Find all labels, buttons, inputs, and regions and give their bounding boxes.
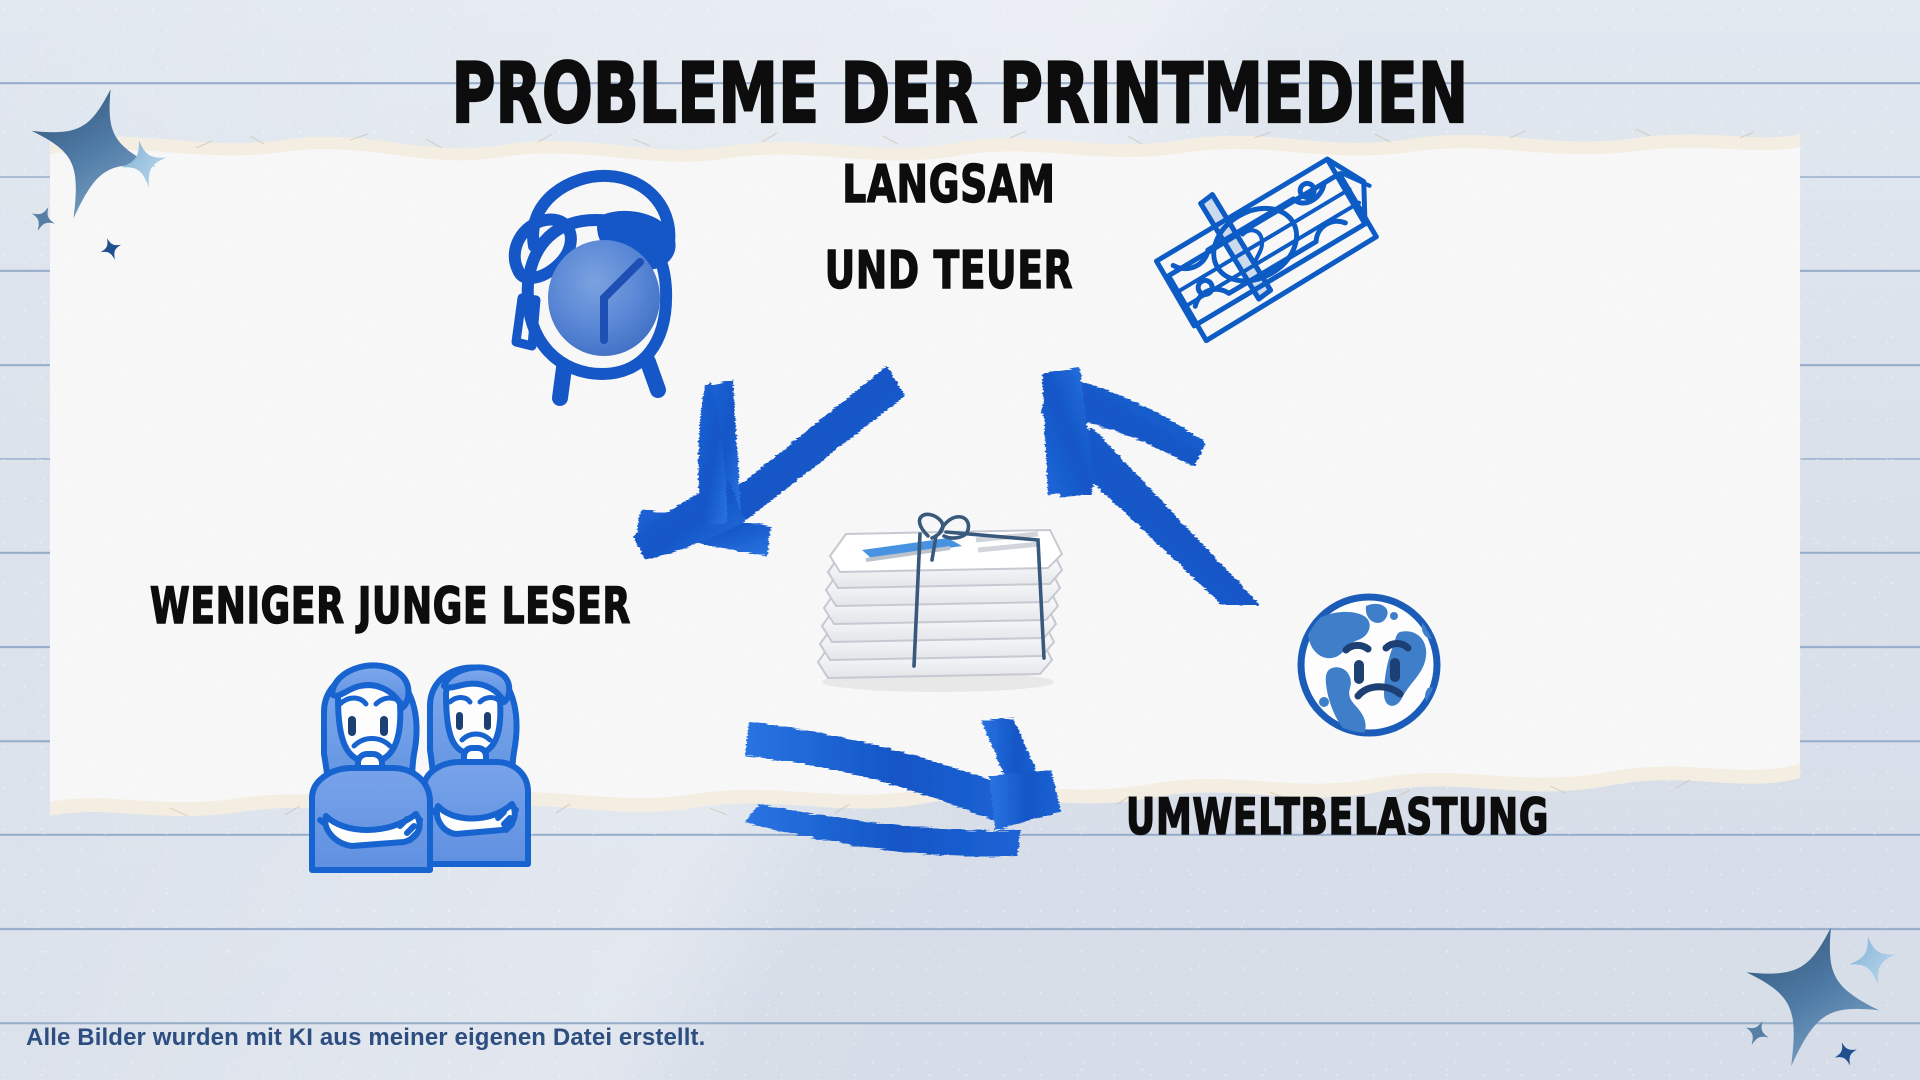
label-umweltbelastung: UMWELTBELASTUNG <box>1126 775 1494 860</box>
label-langsam-und-teuer: LANGSAM UND TEUER <box>817 143 1081 315</box>
star-tl-small <box>118 138 170 190</box>
star-tl-tiny <box>28 204 58 234</box>
sad-globe-icon <box>1288 584 1450 746</box>
newspaper-stack-icon <box>800 510 1070 695</box>
sad-youth-icon <box>300 650 540 876</box>
slide-canvas: PROBLEME DER PRINTMEDIEN LANGSAM UND TEU… <box>0 0 1920 1080</box>
attribution-caption: Alle Bilder wurden mit KI aus meiner eig… <box>26 1024 705 1052</box>
banknotes-icon <box>1160 160 1410 390</box>
star-br-mini <box>1832 1040 1860 1068</box>
star-tl-mini <box>98 236 124 262</box>
star-br-tiny <box>1742 1018 1772 1048</box>
star-br-small <box>1846 934 1900 988</box>
arrow-right-icon <box>745 718 1075 858</box>
page-title: PROBLEME DER PRINTMEDIEN <box>452 48 1469 141</box>
label-weniger-junge-leser: WENIGER JUNGE LESER <box>150 578 631 634</box>
alarm-clock-icon <box>490 158 710 388</box>
